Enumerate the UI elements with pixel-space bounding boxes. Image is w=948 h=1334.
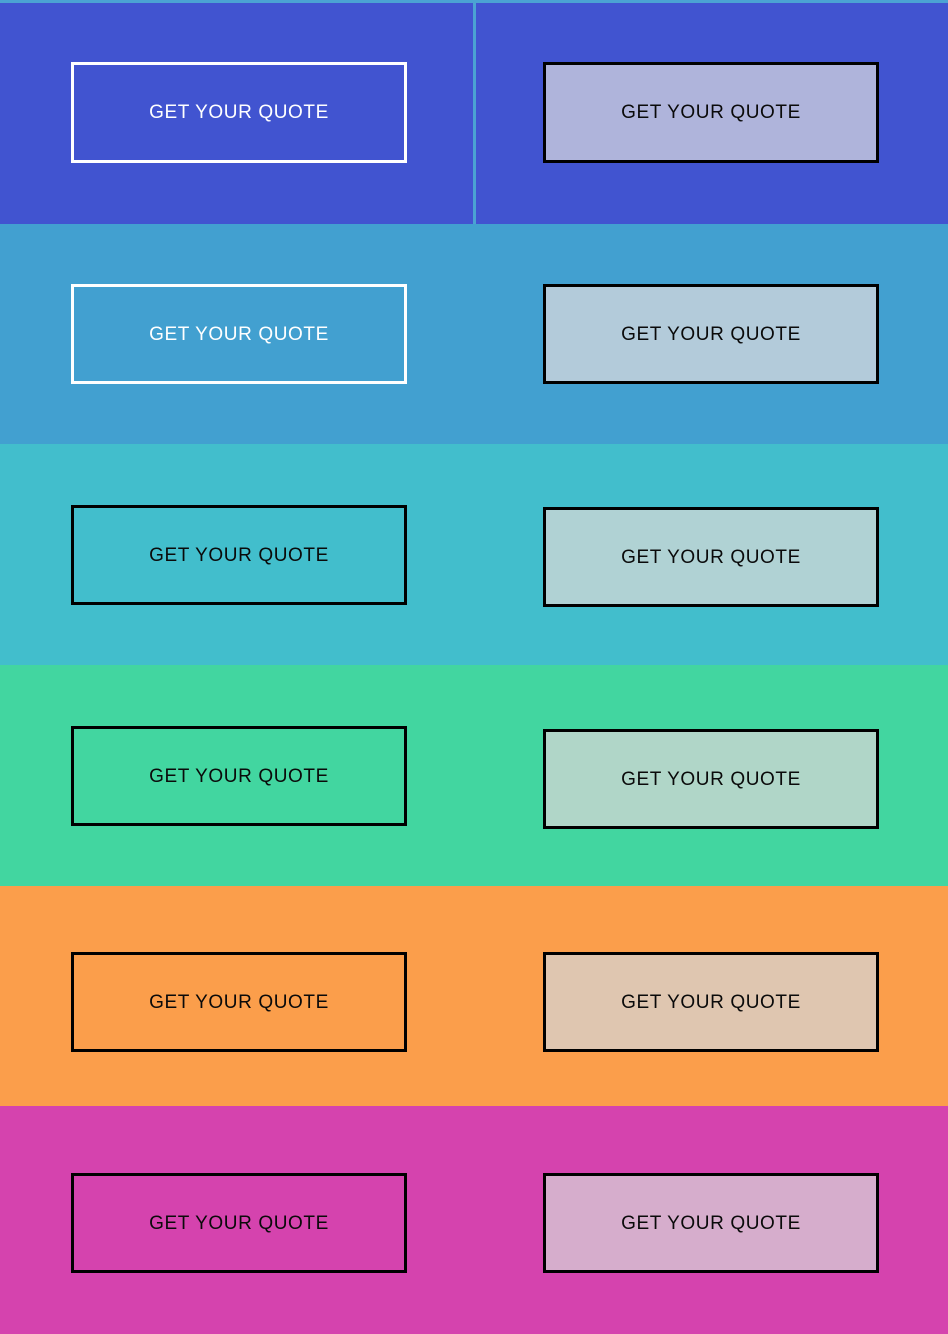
get-quote-button-label: GET YOUR QUOTE (621, 1214, 801, 1233)
get-quote-button-label: GET YOUR QUOTE (621, 993, 801, 1012)
get-quote-button-label: GET YOUR QUOTE (149, 103, 329, 122)
get-quote-button-label: GET YOUR QUOTE (621, 325, 801, 344)
get-quote-button-label: GET YOUR QUOTE (149, 546, 329, 565)
get-quote-button-label: GET YOUR QUOTE (621, 770, 801, 789)
get-quote-button-mint-green-right[interactable]: GET YOUR QUOTE (543, 729, 879, 829)
get-quote-button-orange-left[interactable]: GET YOUR QUOTE (71, 952, 407, 1052)
button-variant-board: GET YOUR QUOTEGET YOUR QUOTEGET YOUR QUO… (0, 0, 948, 1334)
get-quote-button-sky-blue-left[interactable]: GET YOUR QUOTE (71, 284, 407, 384)
color-band-magenta: GET YOUR QUOTEGET YOUR QUOTE (0, 1106, 948, 1334)
color-band-mint-green: GET YOUR QUOTEGET YOUR QUOTE (0, 665, 948, 886)
get-quote-button-teal-left[interactable]: GET YOUR QUOTE (71, 505, 407, 605)
get-quote-button-label: GET YOUR QUOTE (149, 767, 329, 786)
color-band-inner: GET YOUR QUOTEGET YOUR QUOTE (0, 224, 948, 444)
get-quote-button-magenta-left[interactable]: GET YOUR QUOTE (71, 1173, 407, 1273)
get-quote-button-teal-right[interactable]: GET YOUR QUOTE (543, 507, 879, 607)
get-quote-button-mint-green-left[interactable]: GET YOUR QUOTE (71, 726, 407, 826)
get-quote-button-sky-blue-right[interactable]: GET YOUR QUOTE (543, 284, 879, 384)
color-band-inner: GET YOUR QUOTEGET YOUR QUOTE (0, 1106, 948, 1334)
get-quote-button-label: GET YOUR QUOTE (149, 1214, 329, 1233)
get-quote-button-royal-blue-right[interactable]: GET YOUR QUOTE (543, 62, 879, 163)
get-quote-button-label: GET YOUR QUOTE (149, 325, 329, 344)
color-band-sky-blue: GET YOUR QUOTEGET YOUR QUOTE (0, 224, 948, 444)
get-quote-button-orange-right[interactable]: GET YOUR QUOTE (543, 952, 879, 1052)
color-band-inner: GET YOUR QUOTEGET YOUR QUOTE (0, 886, 948, 1106)
get-quote-button-label: GET YOUR QUOTE (149, 993, 329, 1012)
color-band-inner: GET YOUR QUOTEGET YOUR QUOTE (0, 444, 948, 665)
color-band-orange: GET YOUR QUOTEGET YOUR QUOTE (0, 886, 948, 1106)
color-band-inner: GET YOUR QUOTEGET YOUR QUOTE (0, 665, 948, 886)
color-band-teal: GET YOUR QUOTEGET YOUR QUOTE (0, 444, 948, 665)
color-band-inner: GET YOUR QUOTEGET YOUR QUOTE (0, 0, 948, 224)
get-quote-button-royal-blue-left[interactable]: GET YOUR QUOTE (71, 62, 407, 163)
color-band-royal-blue: GET YOUR QUOTEGET YOUR QUOTE (0, 0, 948, 224)
get-quote-button-magenta-right[interactable]: GET YOUR QUOTE (543, 1173, 879, 1273)
get-quote-button-label: GET YOUR QUOTE (621, 103, 801, 122)
get-quote-button-label: GET YOUR QUOTE (621, 548, 801, 567)
column-split-divider (473, 0, 476, 224)
